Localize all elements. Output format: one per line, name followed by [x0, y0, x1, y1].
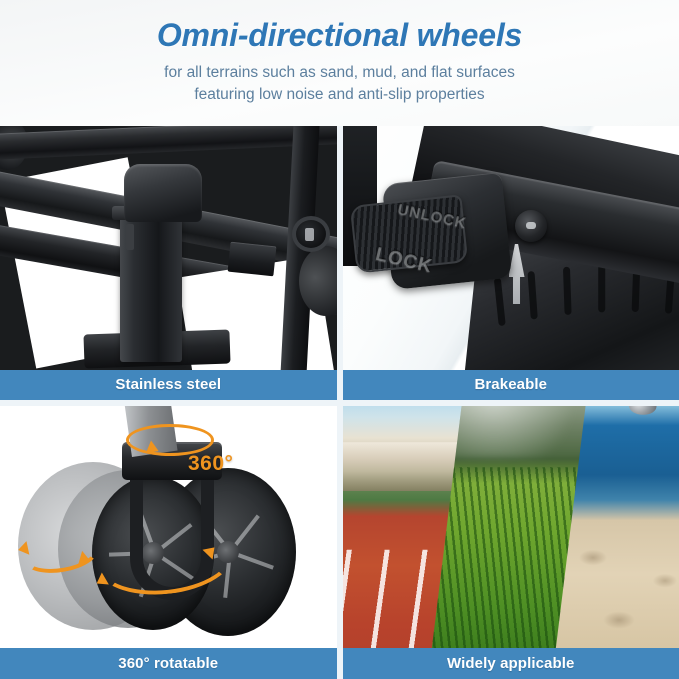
swivel-socket [292, 216, 330, 252]
panel-brakeable[interactable]: UNLOCK LOCK Brakeable [343, 126, 679, 400]
feature-grid: Stainless steel UNLOCK LOCK Brakeable [0, 126, 679, 679]
tire-tread [562, 267, 571, 315]
photo-brake-pedal: UNLOCK LOCK [343, 126, 679, 370]
frame-right-bracket [227, 242, 276, 277]
photo-stainless-steel-frame [0, 126, 337, 370]
photo-omni-wheel: 360° [0, 406, 337, 649]
tire-tread [527, 271, 537, 319]
panel-caption-widely-applicable: Widely applicable [343, 648, 679, 679]
swivel-joint [124, 164, 202, 222]
pivot-bolt [515, 210, 547, 242]
panel-stainless-steel[interactable]: Stainless steel [0, 126, 337, 400]
panel-widely-applicable[interactable]: Widely applicable [343, 406, 679, 679]
frame-top-rail [0, 126, 337, 160]
header-banner: Omni-directional wheels for all terrains… [0, 0, 679, 126]
page-subtitle: for all terrains such as sand, mud, and … [0, 62, 679, 106]
tire-tread [598, 264, 605, 312]
panel-caption-360-rotatable: 360° rotatable [0, 648, 337, 679]
frame-vertical-post [120, 214, 182, 362]
subtitle-line-1: for all terrains such as sand, mud, and … [0, 62, 679, 84]
shoreline-rock [629, 406, 657, 414]
brake-pedal-lower [349, 194, 467, 273]
angle-label-360: 360° [188, 452, 233, 476]
page-title: Omni-directional wheels [0, 18, 679, 53]
terrain-collage-wrapper [343, 406, 679, 649]
tire-tread [493, 278, 505, 326]
panel-caption-stainless-steel: Stainless steel [0, 370, 337, 400]
panel-360-rotatable[interactable]: 360° 360° rotatable [0, 406, 337, 679]
photo-terrain-collage [343, 406, 679, 649]
panel-caption-brakeable: Brakeable [343, 370, 679, 400]
subtitle-line-2: featuring low noise and anti-slip proper… [0, 84, 679, 106]
